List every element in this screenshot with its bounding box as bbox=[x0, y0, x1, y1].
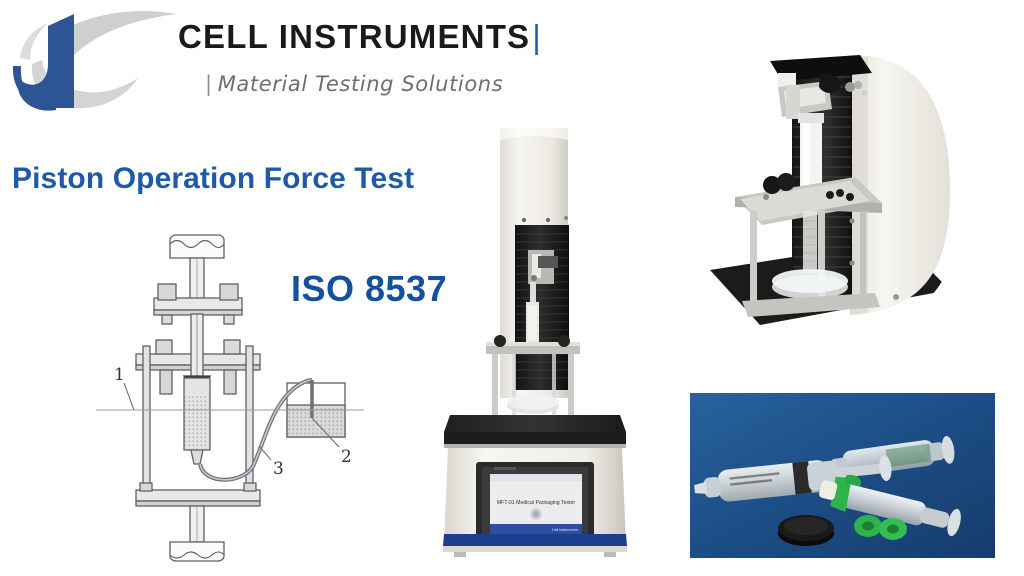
brand-name-bar: | bbox=[532, 18, 542, 55]
fixture-closeup-photo bbox=[700, 25, 1000, 345]
syringes-and-gaskets-icon bbox=[690, 393, 995, 558]
cell-instruments-c-swoosh-icon bbox=[8, 4, 198, 116]
diagram-callout-2: 2 bbox=[341, 447, 352, 467]
universal-testing-machine-icon: MFT-01 Medical Packaging Tester Cell Ins… bbox=[420, 110, 650, 568]
diagram-callout-1: 1 bbox=[114, 365, 125, 385]
brand-tagline: |Material Testing Solutions bbox=[205, 72, 503, 96]
test-fixture-closeup-icon bbox=[700, 25, 1000, 345]
diagram-callout-3: 3 bbox=[273, 459, 284, 479]
brand-tagline-bar: | bbox=[205, 72, 213, 96]
brand-logo bbox=[8, 4, 198, 116]
test-apparatus-diagram: 1 2 3 bbox=[96, 228, 364, 566]
machine-screen-title: MFT-01 Medical Packaging Tester bbox=[497, 500, 576, 506]
brand-name-text: CELL INSTRUMENTS bbox=[178, 18, 530, 55]
brand-name: CELL INSTRUMENTS| bbox=[178, 18, 542, 56]
syringes-photo bbox=[690, 393, 995, 558]
syringe-piston-force-test-schematic-icon: 1 2 3 bbox=[96, 228, 364, 566]
testing-machine-photo: MFT-01 Medical Packaging Tester Cell Ins… bbox=[420, 110, 650, 568]
brand-tagline-text: Material Testing Solutions bbox=[218, 72, 504, 96]
page-title: Piston Operation Force Test bbox=[12, 162, 414, 196]
